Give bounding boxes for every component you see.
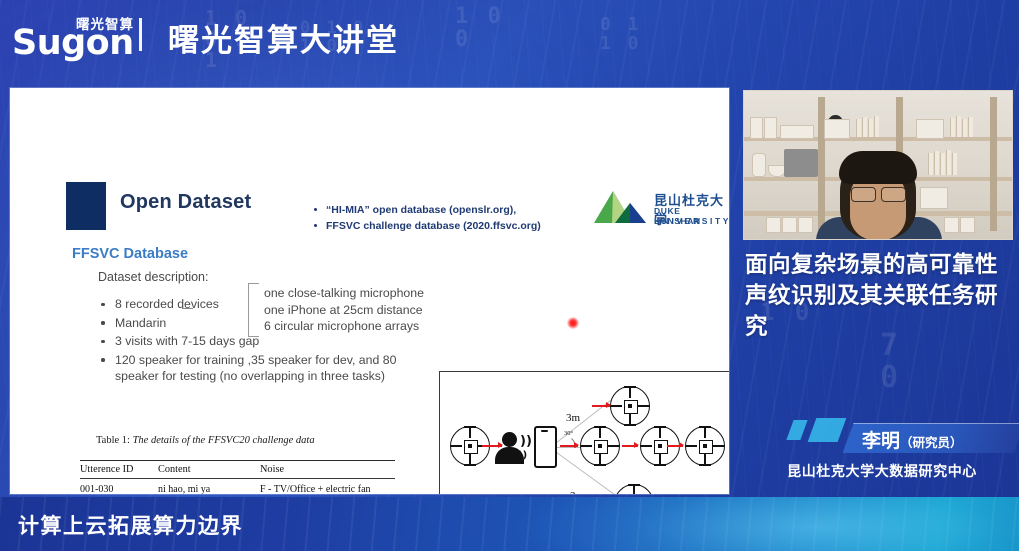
person-head: [502, 432, 517, 447]
laptop: [920, 187, 948, 209]
slide-accent-square: [66, 182, 106, 230]
storage-box: [960, 217, 975, 233]
ffsvc-table: Utterence ID Content Noise 001-030 ni ha…: [80, 460, 395, 494]
speaker-head: [840, 153, 916, 239]
mic-bar: [599, 427, 601, 438]
book: [928, 153, 933, 175]
table-cell-noise: F - TV/Office + electric fan: [260, 483, 395, 494]
mic-core: [654, 440, 668, 454]
laser-pointer-dot: [567, 317, 579, 329]
mic-bar: [611, 405, 622, 407]
mic-core: [464, 440, 478, 454]
slide-section-title: Open Dataset: [120, 191, 251, 214]
mic-bar: [608, 445, 619, 447]
eyeglasses-right: [881, 187, 906, 202]
speaker-role: （研究员）: [900, 435, 963, 450]
table-caption-prefix: Table 1:: [96, 435, 130, 446]
bullet-visits: 3 visits with 7-15 days gap: [98, 333, 438, 350]
device-detail-item: one iPhone at 25cm distance: [264, 302, 424, 319]
talk-title: 面向复杂场景的高可靠性声纹识别及其关联任务研究: [745, 250, 1013, 343]
distance-arrow: [622, 445, 638, 447]
storage-box: [750, 117, 763, 139]
book: [952, 153, 957, 175]
book: [956, 116, 961, 137]
book: [940, 153, 945, 175]
eyeglasses-left: [851, 187, 876, 202]
device-connector-dash: [182, 308, 193, 309]
header-inner: 曙光智算 Sugon 曙光智算大讲堂: [0, 0, 1019, 83]
mic-bar: [704, 427, 706, 438]
distance-arrow: [482, 445, 502, 447]
mic-cap: [654, 426, 666, 428]
presentation-slide[interactable]: Open Dataset “HI-MIA” open database (ope…: [10, 88, 729, 494]
mic-bar: [633, 485, 635, 494]
table-cell-id: 001-030: [80, 483, 158, 494]
mic-core: [594, 440, 608, 454]
mic-bar: [713, 445, 724, 447]
mic-cap: [594, 464, 606, 466]
mic-array-upper: [610, 386, 650, 426]
storage-box: [780, 125, 814, 139]
mic-cap: [699, 464, 711, 466]
deco-shape: [786, 420, 807, 440]
dku-logo-en2: UNIVERSITY: [654, 216, 729, 226]
speaker-video-feed[interactable]: [743, 90, 1013, 240]
storage-box: [782, 217, 797, 233]
device-detail-item: one close-talking microphone: [264, 285, 424, 302]
table-mid-rule: [80, 478, 395, 479]
slide-top-bullets: “HI-MIA” open database (openslr.org), FF…: [272, 202, 592, 234]
device-detail-list: one close-talking microphone one iPhone …: [264, 285, 424, 335]
top-bullet-item: “HI-MIA” open database (openslr.org),: [312, 202, 592, 218]
bottom-banner: 计算上云拓展算力边界: [0, 497, 1019, 551]
table-header-cell: Utterence ID: [80, 461, 158, 478]
header-title: 曙光智算大讲堂: [168, 15, 399, 60]
table-header-cell: Content: [158, 461, 260, 478]
vase: [752, 153, 766, 177]
mic-bar: [641, 445, 652, 447]
mic-array-1m: [580, 426, 620, 466]
bullet-speakers: 120 speaker for training ,35 speaker for…: [98, 352, 438, 385]
book: [874, 116, 879, 137]
mic-bar: [581, 445, 592, 447]
device-brace: [248, 283, 259, 337]
table-header-cell: Noise: [260, 461, 395, 478]
book: [950, 118, 955, 137]
table-caption: Table 1: The details of the FFSVC20 chal…: [96, 435, 315, 446]
storage-box: [944, 217, 959, 233]
sugon-logo-en: Sugon: [12, 26, 134, 61]
mic-bar: [659, 427, 661, 438]
device-detail-item: 6 circular microphone arrays: [264, 318, 424, 335]
duke-kunshan-logo: 昆山杜克大学 DUKE KUNSHAN UNIVERSITY: [592, 187, 728, 233]
mic-cap: [654, 464, 666, 466]
mic-cap: [628, 484, 640, 486]
book: [946, 150, 951, 175]
mic-cap: [464, 464, 476, 466]
mic-core: [624, 400, 638, 414]
book: [962, 119, 967, 137]
footer-glow: [510, 497, 1019, 551]
sound-wave-icon-2: )): [518, 450, 527, 461]
mic-core: [699, 440, 713, 454]
broadcast-stage: 1 00 11 0 1 01 0 1 00 0 11 0 101 70 1 0 …: [0, 0, 1019, 551]
table-cell-content: ni hao, mi ya: [158, 483, 260, 494]
top-bullet-item: FFSVC challenge database (2020.ffsvc.org…: [312, 218, 592, 234]
speaker-hair: [839, 151, 917, 184]
phone-icon: [534, 426, 557, 468]
storage-box: [916, 119, 944, 139]
distance-arrow: [560, 445, 578, 447]
book: [968, 117, 973, 137]
distance-arrow: [592, 405, 610, 407]
shelf-post: [990, 97, 997, 231]
mic-cap: [624, 386, 636, 388]
speaker-name-text: 李明（研究员）: [862, 426, 1019, 453]
dataset-description-label: Dataset description:: [98, 270, 208, 284]
table-header-row: Utterence ID Content Noise: [80, 461, 395, 478]
book: [856, 119, 861, 137]
mic-bar: [686, 445, 697, 447]
storage-box: [798, 217, 813, 233]
storage-box: [824, 119, 850, 139]
distance-label-lower: 3m: [570, 490, 584, 494]
deco-shape: [808, 418, 847, 442]
mic-cap: [624, 424, 636, 426]
angle-label: 30°: [564, 430, 573, 437]
distance-label-upper: 3m: [566, 412, 580, 424]
speaker-affiliation: 昆山杜克大学大数据研究中心: [745, 461, 1019, 481]
mic-bar: [638, 405, 649, 407]
sound-wave-icon: )): [520, 434, 532, 449]
slide-subsection-title: FFSVC Database: [72, 246, 188, 262]
header-divider: [139, 18, 142, 51]
mic-bar: [629, 387, 631, 398]
storage-box: [766, 217, 781, 233]
storage-box: [764, 117, 777, 139]
shelf-post: [818, 97, 825, 231]
mic-cap: [594, 426, 606, 428]
footer-slogan: 计算上云拓展算力边界: [18, 510, 243, 540]
speaker-name: 李明: [862, 430, 900, 452]
monitor: [784, 149, 818, 177]
book: [862, 117, 867, 137]
mic-array-lower: [614, 484, 654, 494]
table-row: 001-030 ni hao, mi ya F - TV/Office + el…: [80, 483, 395, 494]
mountain-icon: [592, 189, 650, 229]
mic-cap: [699, 426, 711, 428]
mic-bar: [469, 427, 471, 438]
recording-setup-diagram: 30° 3m 3m )) )): [439, 371, 729, 494]
mic-cap: [464, 426, 476, 428]
distance-arrow: [667, 445, 683, 447]
mic-bar: [451, 445, 462, 447]
table-caption-italic: The details of the FFSVC20 challenge dat…: [133, 435, 315, 446]
book: [934, 151, 939, 175]
top-header-bar: 曙光智算 Sugon 曙光智算大讲堂: [0, 0, 1019, 83]
book: [868, 119, 873, 137]
mic-array-5m: [685, 426, 725, 466]
